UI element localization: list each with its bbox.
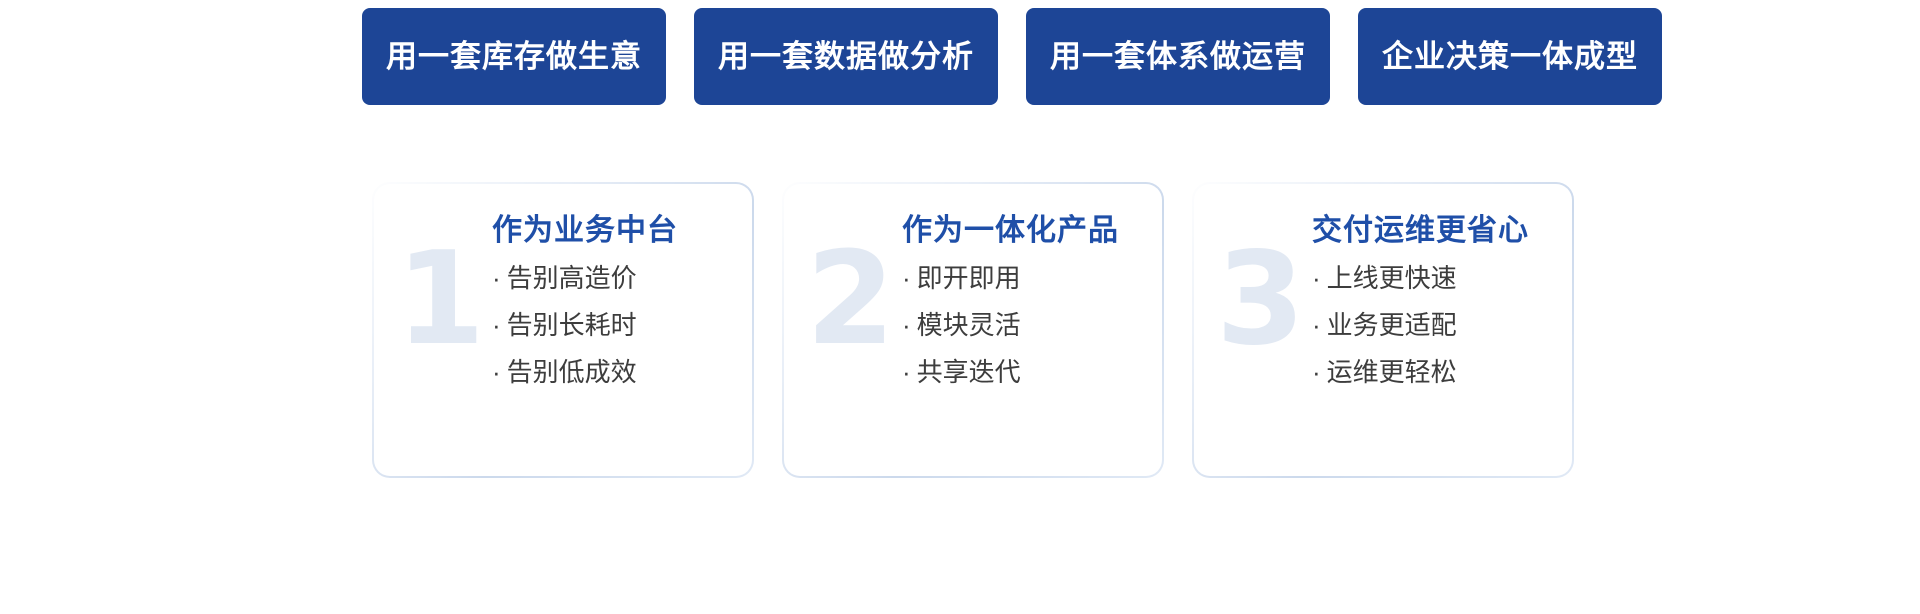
bullet-dot-icon: ·: [1312, 359, 1321, 385]
card-content: 作为业务中台 · 告别高造价 · 告别长耗时 · 告别低成效: [492, 214, 738, 406]
list-item: · 即开即用: [902, 265, 1148, 291]
card-content: 作为一体化产品 · 即开即用 · 模块灵活 · 共享迭代: [902, 214, 1148, 406]
list-item-label: 告别长耗时: [507, 312, 637, 338]
bullet-dot-icon: ·: [902, 265, 911, 291]
value-card-row: 1 作为业务中台 · 告别高造价 · 告别长耗时 · 告别低成效: [372, 182, 1574, 478]
value-card-2[interactable]: 2 作为一体化产品 · 即开即用 · 模块灵活 · 共享迭代: [782, 182, 1164, 478]
list-item: · 告别低成效: [492, 359, 738, 385]
list-item-label: 运维更轻松: [1327, 359, 1457, 385]
value-card-1[interactable]: 1 作为业务中台 · 告别高造价 · 告别长耗时 · 告别低成效: [372, 182, 754, 478]
list-item-label: 业务更适配: [1327, 312, 1457, 338]
feature-tag-2[interactable]: 用一套体系做运营: [1026, 8, 1330, 105]
list-item: · 共享迭代: [902, 359, 1148, 385]
bullet-dot-icon: ·: [902, 312, 911, 338]
card-bullet-list: · 告别高造价 · 告别长耗时 · 告别低成效: [492, 265, 738, 385]
feature-tag-row: 用一套库存做生意 用一套数据做分析 用一套体系做运营 企业决策一体成型: [362, 8, 1662, 105]
card-bullet-list: · 上线更快速 · 业务更适配 · 运维更轻松: [1312, 265, 1558, 385]
list-item: · 运维更轻松: [1312, 359, 1558, 385]
feature-tag-label: 用一套体系做运营: [1050, 41, 1306, 72]
card-bullet-list: · 即开即用 · 模块灵活 · 共享迭代: [902, 265, 1148, 385]
list-item: · 告别高造价: [492, 265, 738, 291]
list-item: · 模块灵活: [902, 312, 1148, 338]
feature-tag-label: 用一套数据做分析: [718, 41, 974, 72]
card-title: 作为业务中台: [492, 214, 738, 247]
list-item-label: 模块灵活: [917, 312, 1021, 338]
list-item: · 业务更适配: [1312, 312, 1558, 338]
feature-tag-3[interactable]: 企业决策一体成型: [1358, 8, 1662, 105]
list-item-label: 上线更快速: [1327, 265, 1457, 291]
feature-tag-label: 用一套库存做生意: [386, 41, 642, 72]
list-item: · 告别长耗时: [492, 312, 738, 338]
list-item: · 上线更快速: [1312, 265, 1558, 291]
bullet-dot-icon: ·: [1312, 312, 1321, 338]
bullet-dot-icon: ·: [492, 312, 501, 338]
list-item-label: 告别高造价: [507, 265, 637, 291]
list-item-label: 共享迭代: [917, 359, 1021, 385]
card-title: 交付运维更省心: [1312, 214, 1558, 247]
value-card-3[interactable]: 3 交付运维更省心 · 上线更快速 · 业务更适配 · 运维更轻松: [1192, 182, 1574, 478]
card-number-badge: 1: [396, 236, 483, 364]
list-item-label: 告别低成效: [507, 359, 637, 385]
card-title: 作为一体化产品: [902, 214, 1148, 247]
bullet-dot-icon: ·: [1312, 265, 1321, 291]
card-content: 交付运维更省心 · 上线更快速 · 业务更适配 · 运维更轻松: [1312, 214, 1558, 406]
bullet-dot-icon: ·: [902, 359, 911, 385]
card-number-badge: 2: [806, 236, 893, 364]
card-number-badge: 3: [1216, 236, 1303, 364]
list-item-label: 即开即用: [917, 265, 1021, 291]
promo-section: 用一套库存做生意 用一套数据做分析 用一套体系做运营 企业决策一体成型 1 作为…: [0, 0, 1920, 614]
bullet-dot-icon: ·: [492, 265, 501, 291]
feature-tag-1[interactable]: 用一套数据做分析: [694, 8, 998, 105]
feature-tag-label: 企业决策一体成型: [1382, 41, 1638, 72]
bullet-dot-icon: ·: [492, 359, 501, 385]
feature-tag-0[interactable]: 用一套库存做生意: [362, 8, 666, 105]
